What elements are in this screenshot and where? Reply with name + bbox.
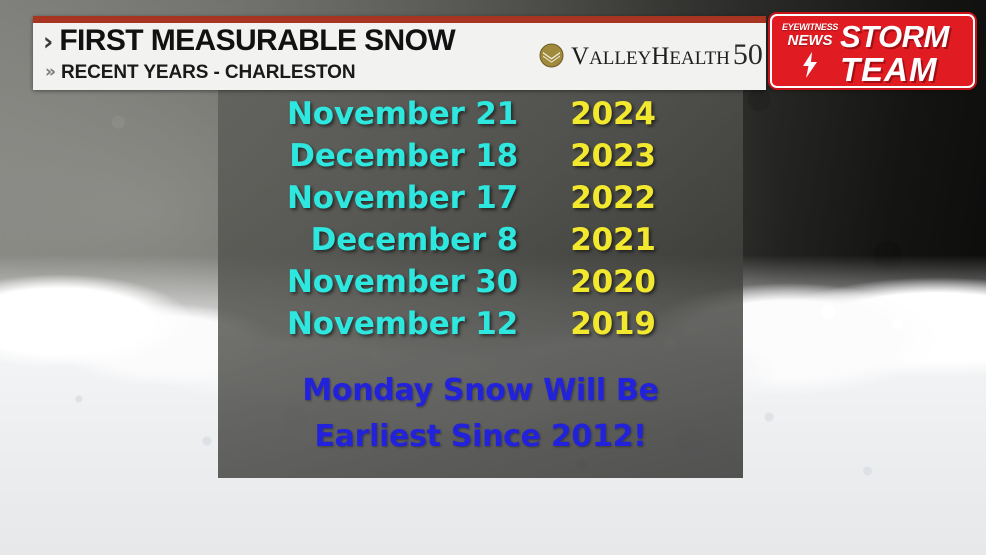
- sponsor-logo: VALLEYHEALTH50: [539, 40, 763, 70]
- graphic-header-bar: › FIRST MEASURABLE SNOW » RECENT YEARS -…: [33, 16, 766, 90]
- storm-team-logo: EYEWITNESS NEWS STORM TEAM: [770, 14, 975, 88]
- caption-line-1: Monday Snow Will Be: [218, 368, 743, 414]
- lightning-bolt-icon: [779, 52, 841, 83]
- snow-year: 2024: [518, 96, 708, 132]
- team-label: TEAM: [840, 53, 969, 86]
- page-subtitle: RECENT YEARS - CHARLESTON: [61, 63, 356, 82]
- table-row: December 18 2023: [218, 138, 743, 180]
- table-row: November 17 2022: [218, 180, 743, 222]
- sponsor-name: VALLEYHEALTH50: [571, 40, 763, 70]
- title-secondary-row: » RECENT YEARS - CHARLESTON: [43, 63, 455, 82]
- caption-line-2: Earliest Since 2012!: [218, 414, 743, 460]
- snow-year: 2020: [518, 264, 708, 300]
- snow-date: December 8: [218, 222, 518, 258]
- snow-year: 2022: [518, 180, 708, 216]
- snow-date: November 17: [218, 180, 518, 216]
- storm-team-wordmark: STORM TEAM: [840, 20, 969, 86]
- snow-dates-table: November 21 2024 December 18 2023 Novemb…: [218, 96, 743, 348]
- chevron-right-icon: ›: [43, 29, 53, 54]
- valley-health-emblem-icon: [539, 43, 564, 68]
- snow-date: November 21: [218, 96, 518, 132]
- eyewitness-news-block: EYEWITNESS NEWS: [779, 22, 841, 83]
- snow-date: November 12: [218, 306, 518, 342]
- title-primary-row: › FIRST MEASURABLE SNOW: [43, 26, 455, 56]
- title-block: › FIRST MEASURABLE SNOW » RECENT YEARS -…: [43, 26, 455, 82]
- table-row: December 8 2021: [218, 222, 743, 264]
- weather-graphic: November 21 2024 December 18 2023 Novemb…: [0, 0, 986, 555]
- snow-year: 2023: [518, 138, 708, 174]
- table-row: November 12 2019: [218, 306, 743, 348]
- table-row: November 21 2024: [218, 96, 743, 138]
- snow-year: 2021: [518, 222, 708, 258]
- snow-year: 2019: [518, 306, 708, 342]
- snow-date: December 18: [218, 138, 518, 174]
- page-title: FIRST MEASURABLE SNOW: [59, 26, 455, 56]
- forecast-caption: Monday Snow Will Be Earliest Since 2012!: [218, 368, 743, 460]
- table-row: November 30 2020: [218, 264, 743, 306]
- header-accent-stripe: [33, 16, 766, 23]
- chevron-double-right-icon: »: [45, 64, 56, 81]
- sponsor-anniversary: 50: [733, 38, 763, 71]
- news-label: NEWS: [779, 33, 841, 49]
- snow-date: November 30: [218, 264, 518, 300]
- storm-label: STORM: [840, 20, 969, 53]
